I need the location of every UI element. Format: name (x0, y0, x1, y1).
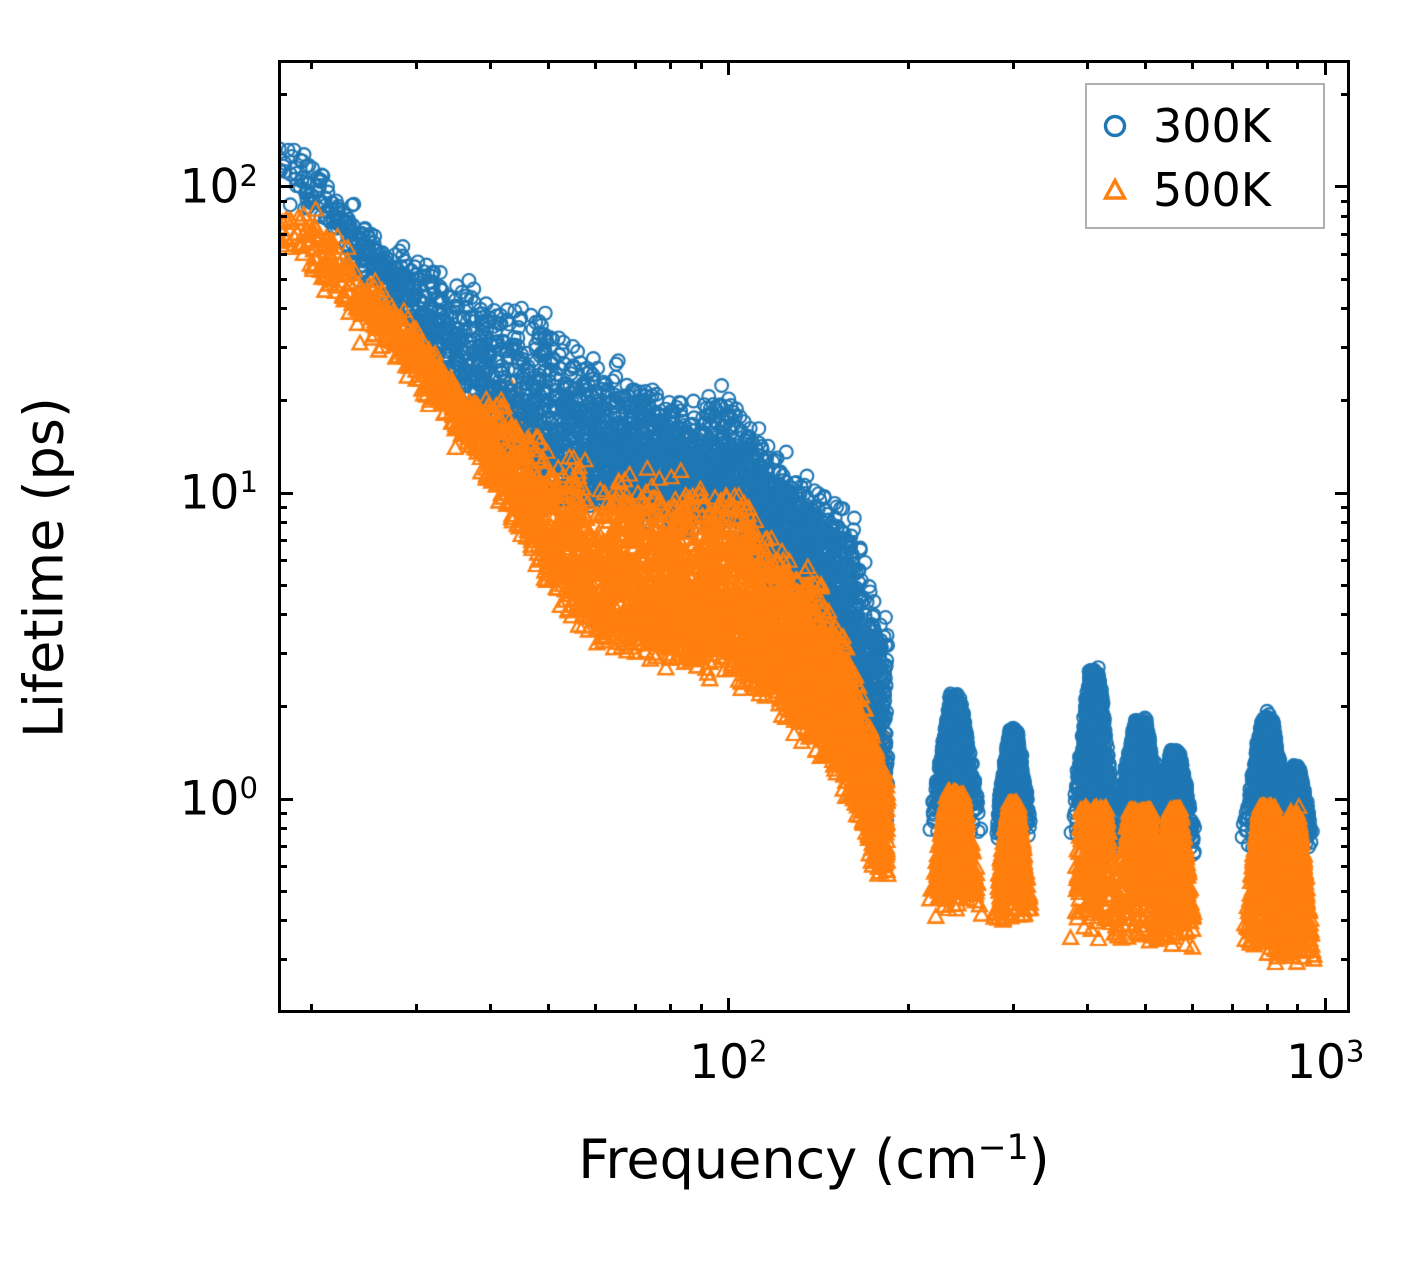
y-minor-tick-right (1341, 539, 1350, 542)
y-minor-tick (278, 812, 287, 815)
x-minor-tick-top (1231, 60, 1234, 69)
y-minor-tick-right (1341, 919, 1350, 922)
x-minor-tick-top (1296, 60, 1299, 69)
x-ticklabel-exponent: 3 (1346, 1034, 1365, 1068)
y-major-tick-right (1335, 798, 1350, 801)
y-minor-tick-right (1341, 253, 1350, 256)
y-minor-tick (278, 93, 287, 96)
y-minor-tick-right (1341, 346, 1350, 349)
x-ticklabel-exponent: 2 (749, 1034, 768, 1068)
y-minor-tick (278, 705, 287, 708)
x-minor-tick (1266, 1004, 1269, 1013)
y-minor-tick (278, 346, 287, 349)
x-ticklabel-base: 10 (1286, 1035, 1346, 1090)
x-major-tick-top (727, 60, 730, 75)
y-minor-tick (278, 307, 287, 310)
y-minor-tick-right (1341, 521, 1350, 524)
y-minor-tick (278, 559, 287, 562)
y-minor-tick (278, 399, 287, 402)
x-axis-title-tail: ) (1029, 1128, 1050, 1191)
legend-box: 300K 500K (1085, 83, 1325, 229)
y-ticklabel-base: 10 (180, 159, 240, 214)
y-minor-tick (278, 652, 287, 655)
x-axis-title: Frequency (cm−1) (278, 1128, 1350, 1191)
legend-marker-triangle-icon (1087, 173, 1143, 207)
y-minor-tick-right (1341, 890, 1350, 893)
y-minor-tick-right (1341, 399, 1350, 402)
x-major-tick (727, 998, 730, 1013)
x-minor-tick (1144, 1004, 1147, 1013)
y-minor-tick-right (1341, 613, 1350, 616)
y-ticklabel-base: 10 (180, 466, 240, 521)
x-major-tick (1324, 998, 1327, 1013)
y-ticklabel-exponent: 2 (239, 159, 258, 193)
x-minor-tick-top (310, 60, 313, 69)
y-minor-tick-right (1341, 827, 1350, 830)
x-minor-tick-top (1144, 60, 1147, 69)
x-minor-tick-top (1012, 60, 1015, 69)
x-minor-tick (907, 1004, 910, 1013)
x-minor-tick-top (1191, 60, 1194, 69)
y-minor-tick (278, 539, 287, 542)
legend-label-500k: 500K (1153, 163, 1271, 217)
y-minor-tick-right (1341, 93, 1350, 96)
y-axis-title: Lifetime (ps) (13, 218, 76, 918)
legend-label-300k: 300K (1153, 99, 1271, 153)
y-major-tick (278, 185, 293, 188)
x-minor-tick (489, 1004, 492, 1013)
x-minor-tick-top (489, 60, 492, 69)
y-minor-tick (278, 200, 287, 203)
x-axis-title-exponent: −1 (978, 1128, 1029, 1168)
y-minor-tick-right (1341, 506, 1350, 509)
x-minor-tick (594, 1004, 597, 1013)
x-major-tick-top (1324, 60, 1327, 75)
y-minor-tick-right (1341, 958, 1350, 961)
y-minor-tick (278, 919, 287, 922)
x-minor-tick-top (634, 60, 637, 69)
y-ticklabel-exponent: 1 (239, 465, 258, 499)
x-minor-tick-top (669, 60, 672, 69)
y-minor-tick-right (1341, 812, 1350, 815)
y-minor-tick-right (1341, 705, 1350, 708)
x-minor-tick-top (547, 60, 550, 69)
y-major-tick-right (1335, 185, 1350, 188)
y-minor-tick-right (1341, 278, 1350, 281)
x-minor-tick-top (700, 60, 703, 69)
x-minor-tick (634, 1004, 637, 1013)
x-minor-tick (547, 1004, 550, 1013)
y-minor-tick (278, 215, 287, 218)
x-axis-title-base: Frequency (cm (578, 1128, 978, 1191)
x-minor-tick (415, 1004, 418, 1013)
y-minor-tick (278, 890, 287, 893)
legend-marker-circle-icon (1087, 109, 1143, 143)
x-minor-tick (1231, 1004, 1234, 1013)
y-major-tick (278, 798, 293, 801)
legend-entry-500k[interactable]: 500K (1087, 159, 1323, 221)
y-minor-tick-right (1341, 215, 1350, 218)
y-minor-tick (278, 584, 287, 587)
x-minor-tick (310, 1004, 313, 1013)
x-minor-tick-top (1266, 60, 1269, 69)
x-ticklabel-base: 10 (689, 1035, 749, 1090)
legend-entry-300k[interactable]: 300K (1087, 95, 1323, 157)
y-minor-tick-right (1341, 652, 1350, 655)
y-minor-tick (278, 278, 287, 281)
y-minor-tick (278, 521, 287, 524)
x-minor-tick (1296, 1004, 1299, 1013)
x-minor-tick (669, 1004, 672, 1013)
x-minor-tick-top (1086, 60, 1089, 69)
x-minor-tick (1191, 1004, 1194, 1013)
y-minor-tick (278, 233, 287, 236)
y-minor-tick-right (1341, 233, 1350, 236)
x-minor-tick-top (415, 60, 418, 69)
x-ticklabel: 102 (689, 1039, 767, 1086)
y-minor-tick (278, 845, 287, 848)
y-major-tick-right (1335, 492, 1350, 495)
y-minor-tick-right (1341, 559, 1350, 562)
y-minor-tick-right (1341, 200, 1350, 203)
y-minor-tick (278, 958, 287, 961)
y-minor-tick (278, 613, 287, 616)
y-major-tick (278, 492, 293, 495)
y-ticklabel-exponent: 0 (239, 771, 258, 805)
y-minor-tick-right (1341, 865, 1350, 868)
y-ticklabel-base: 10 (180, 772, 240, 827)
y-minor-tick (278, 506, 287, 509)
x-minor-tick-top (594, 60, 597, 69)
x-minor-tick (1086, 1004, 1089, 1013)
y-minor-tick-right (1341, 584, 1350, 587)
figure-root: 102103102101100 Frequency (cm−1) Lifetim… (0, 0, 1416, 1265)
y-minor-tick (278, 253, 287, 256)
x-minor-tick-top (907, 60, 910, 69)
y-minor-tick (278, 827, 287, 830)
x-ticklabel: 103 (1286, 1039, 1364, 1086)
y-minor-tick-right (1341, 307, 1350, 310)
y-ticklabel: 102 (18, 163, 258, 210)
x-minor-tick (1012, 1004, 1015, 1013)
y-minor-tick (278, 865, 287, 868)
y-minor-tick-right (1341, 845, 1350, 848)
x-minor-tick (700, 1004, 703, 1013)
